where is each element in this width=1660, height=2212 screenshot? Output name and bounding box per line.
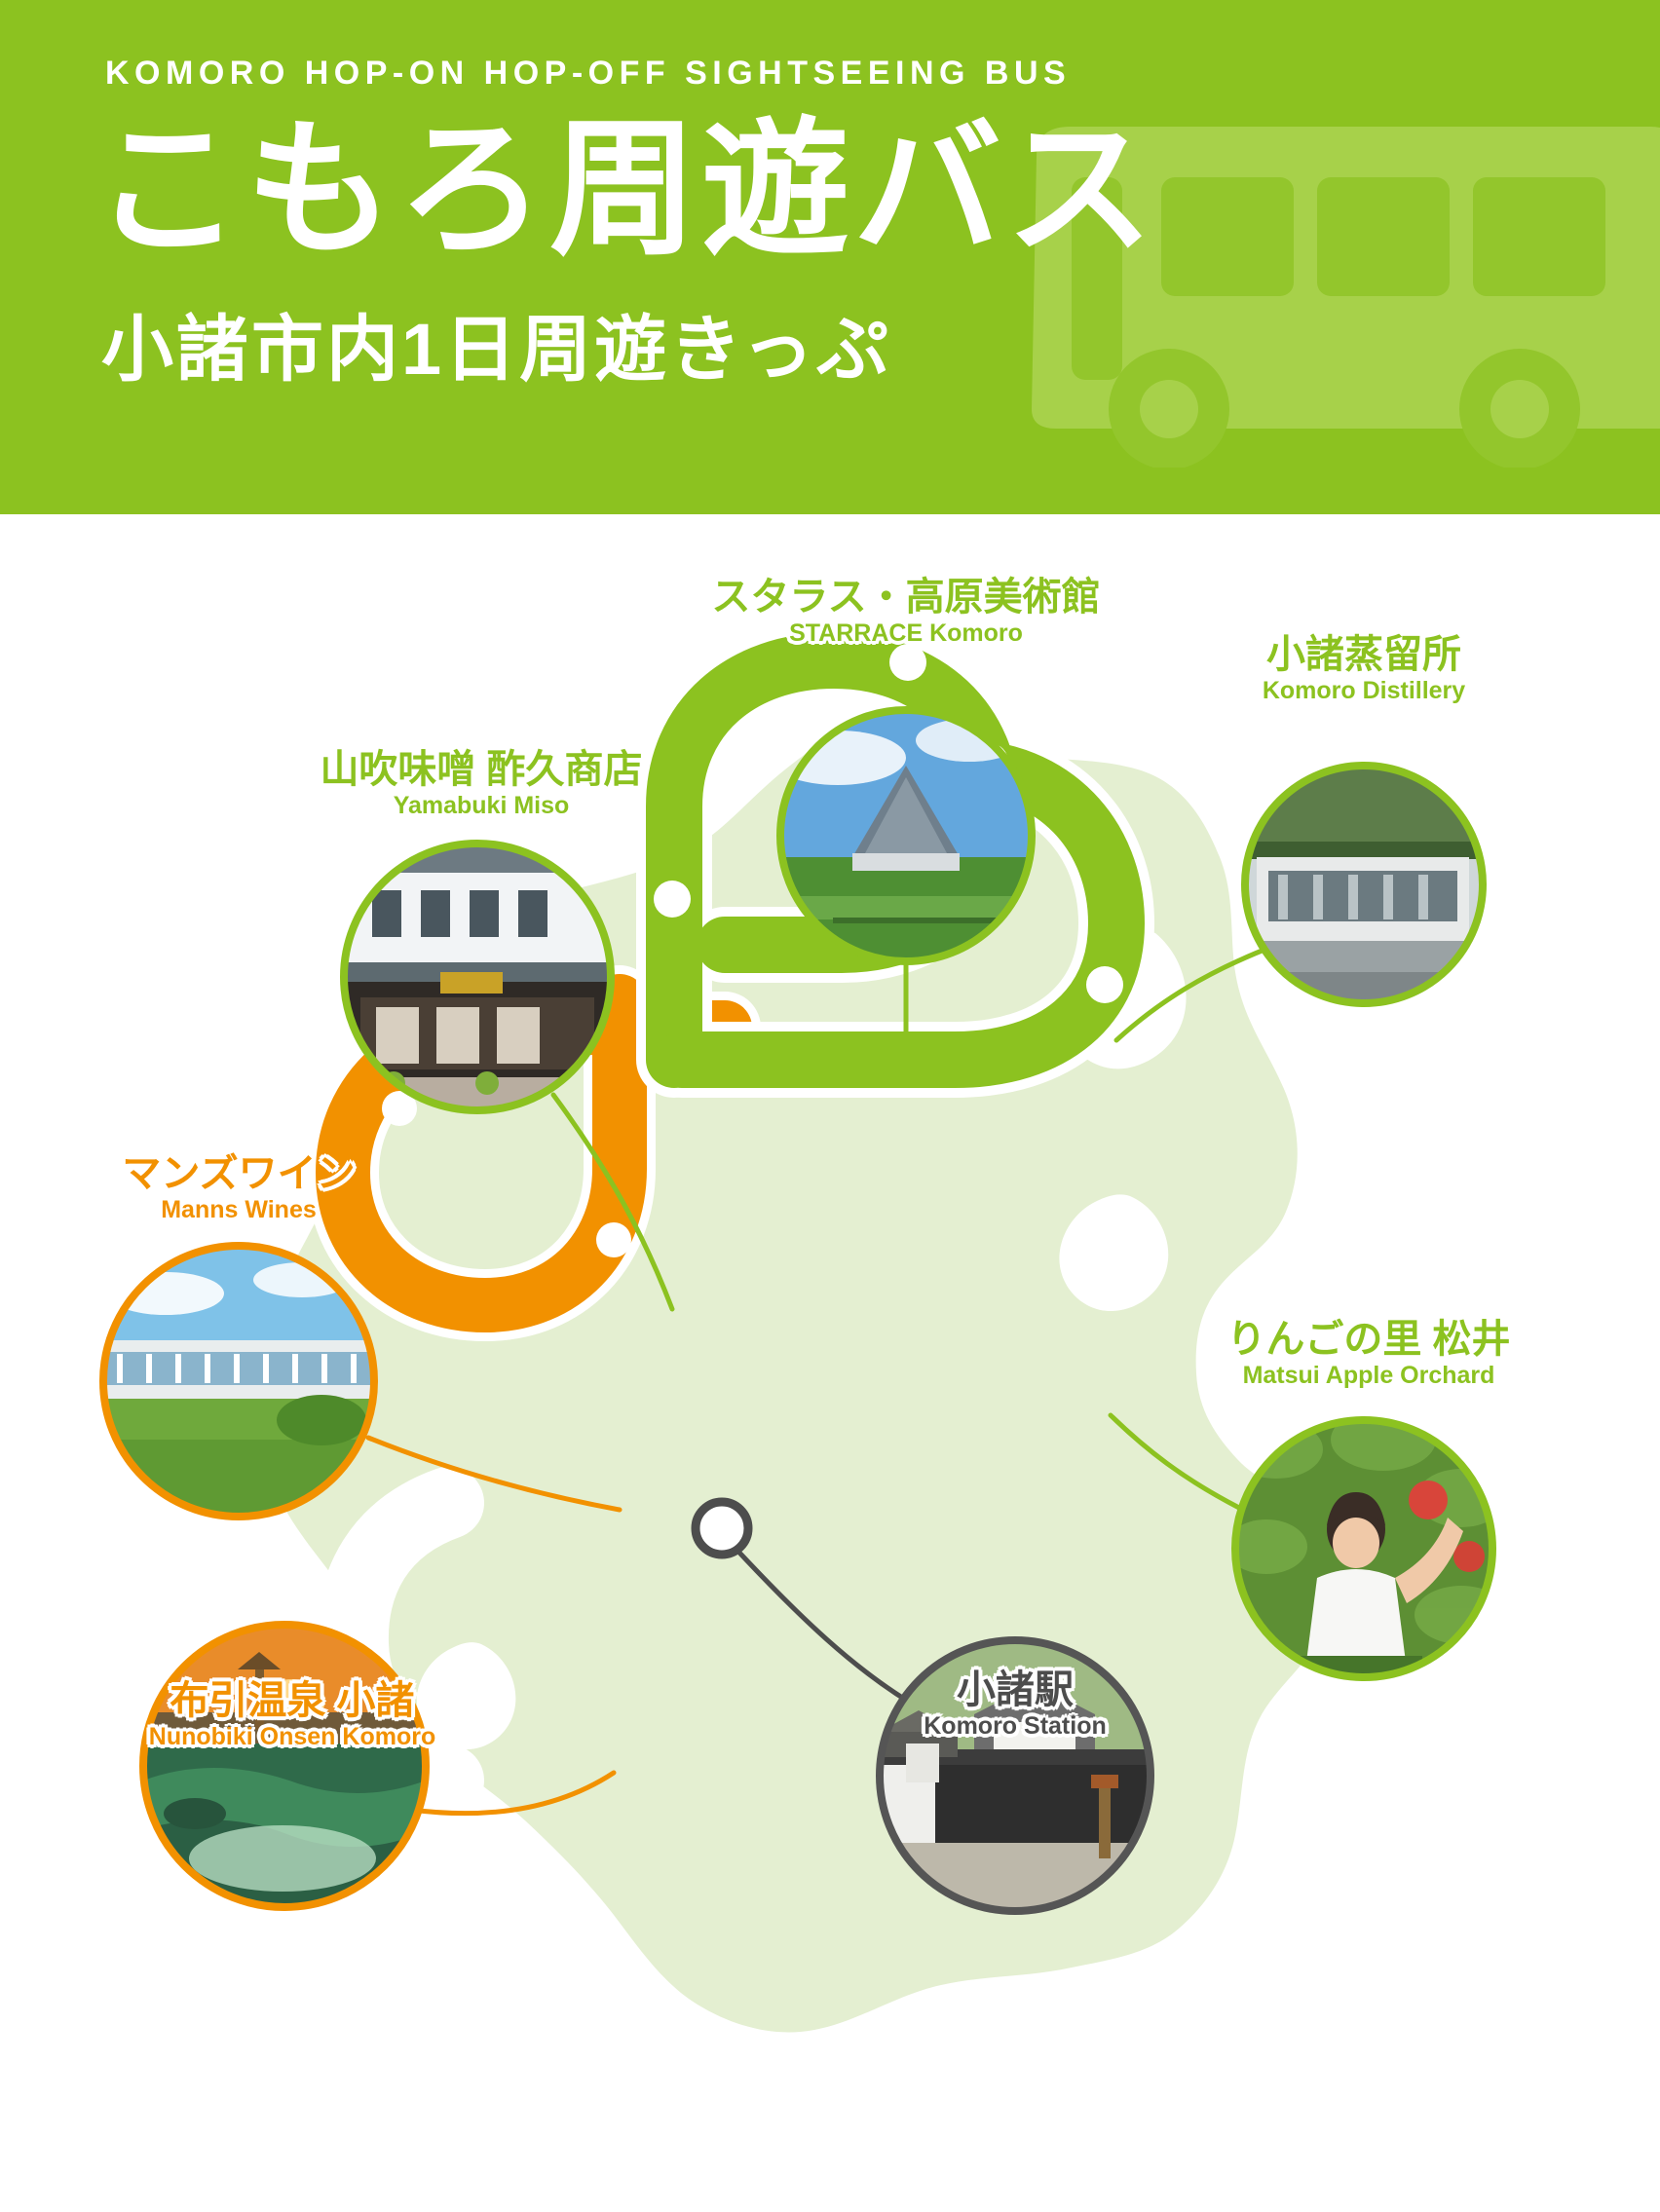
page-title: こもろ周遊バス (94, 107, 1157, 273)
poster-header: KOMORO HOP-ON HOP-OFF SIGHTSEEING BUS こも… (0, 0, 1660, 514)
poi-name-en-nunobiki: Nunobiki Onsen Komoro (149, 1723, 435, 1750)
poi-name-ja-yamabuki: 山吹味噌 酢久商店 (320, 748, 642, 792)
poi-name-en-yamabuki: Yamabuki Miso (320, 792, 642, 819)
poi-label-yamabuki: 山吹味噌 酢久商店 Yamabuki Miso (320, 748, 642, 819)
green-route-stop (654, 881, 691, 918)
poi-label-nunobiki: 布引温泉 小諸 Nunobiki Onsen Komoro (149, 1679, 435, 1750)
poi-name-en-distillery: Komoro Distillery (1263, 677, 1465, 704)
poi-name-en-station: Komoro Station (924, 1712, 1107, 1740)
green-route-stop (889, 644, 926, 681)
poi-label-starrace: スタラス・高原美術館 STARRACE Komoro (711, 576, 1100, 647)
green-route-stop (1086, 966, 1123, 1003)
header-eyebrow: KOMORO HOP-ON HOP-OFF SIGHTSEEING BUS (105, 55, 1071, 93)
station-hub-marker (696, 1502, 748, 1555)
poi-name-ja-manns: マンズワイン (122, 1152, 355, 1196)
poi-name-en-matsui: Matsui Apple Orchard (1226, 1362, 1510, 1389)
poi-name-en-manns: Manns Wines (122, 1196, 355, 1223)
orange-route-stop (596, 1222, 631, 1257)
poi-name-ja-starrace: スタラス・高原美術館 (711, 576, 1100, 619)
header-subtitle: 小諸市内1日周遊きっぷ (101, 310, 891, 389)
poi-name-ja-nunobiki: 布引温泉 小諸 (149, 1679, 435, 1723)
poi-name-ja-station: 小諸駅 (924, 1668, 1107, 1712)
poi-name-en-starrace: STARRACE Komoro (711, 619, 1100, 647)
poi-label-manns: マンズワイン Manns Wines (122, 1152, 355, 1223)
route-map: スタラス・高原美術館 STARRACE Komoro 小諸蒸留所 Komoro … (0, 514, 1660, 2212)
poi-label-matsui: りんごの里 松井 Matsui Apple Orchard (1226, 1318, 1510, 1389)
poi-label-distillery: 小諸蒸留所 Komoro Distillery (1263, 633, 1465, 704)
poi-name-ja-distillery: 小諸蒸留所 (1263, 633, 1465, 677)
poi-name-ja-matsui: りんごの里 松井 (1226, 1318, 1510, 1362)
poi-label-station: 小諸駅 Komoro Station (924, 1668, 1107, 1740)
